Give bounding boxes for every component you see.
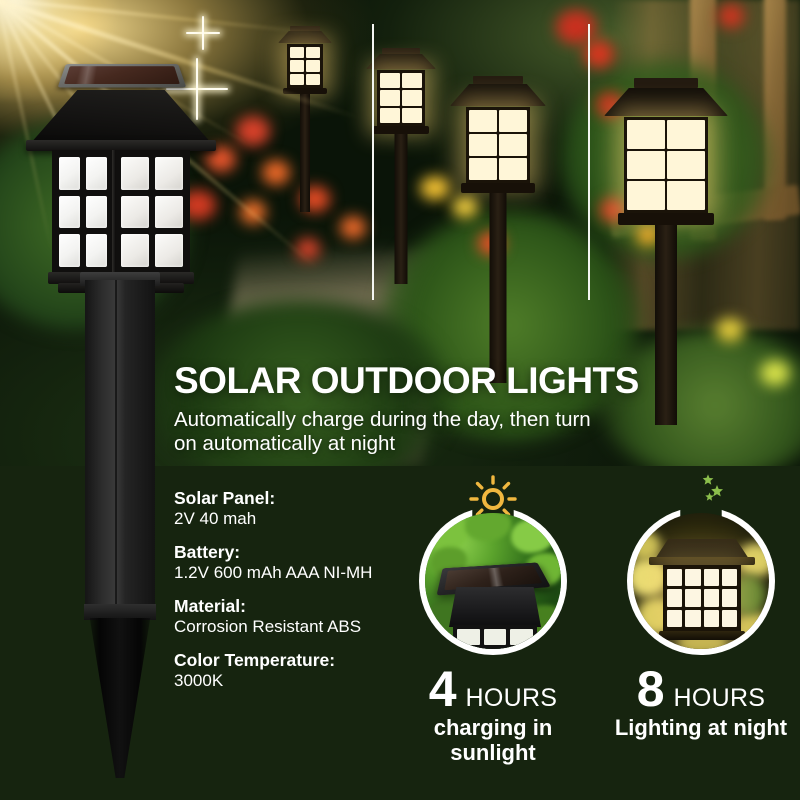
feature-caption: Lighting at night bbox=[606, 716, 796, 741]
lantern-corner-edge bbox=[112, 150, 116, 274]
hours-unit: HOURS bbox=[674, 684, 766, 713]
spec-value: 2V 40 mah bbox=[174, 509, 374, 529]
lighting-photo bbox=[633, 513, 769, 649]
spec-label: Battery: bbox=[174, 542, 374, 563]
flower-bokeh bbox=[716, 318, 744, 342]
headline-block: SOLAR OUTDOOR LIGHTS Automatically charg… bbox=[174, 362, 794, 456]
spec-item: Material: Corrosion Resistant ABS bbox=[174, 596, 374, 637]
flower-bokeh bbox=[420, 176, 450, 200]
flower-bokeh bbox=[262, 160, 290, 185]
flower-bokeh bbox=[556, 10, 596, 44]
solar-cell bbox=[64, 66, 180, 84]
column-divider bbox=[372, 24, 374, 300]
feature-caption: charging in sunlight bbox=[398, 716, 588, 765]
hours-number: 4 bbox=[429, 666, 457, 712]
spec-value: 1.2V 600 mAh AAA NI-MH bbox=[174, 563, 374, 583]
flower-bokeh bbox=[240, 200, 266, 224]
spec-label: Color Temperature: bbox=[174, 650, 374, 671]
spec-item: Color Temperature: 3000K bbox=[174, 650, 374, 691]
solar-panel bbox=[58, 64, 187, 88]
feature-charging: 4 HOURS charging in sunlight bbox=[398, 474, 588, 765]
feature-hours: 4 HOURS bbox=[398, 666, 588, 713]
hours-unit: HOURS bbox=[466, 684, 558, 713]
spec-value: Corrosion Resistant ABS bbox=[174, 617, 374, 637]
flower-bokeh bbox=[452, 196, 478, 218]
spec-label: Material: bbox=[174, 596, 374, 617]
page-title: SOLAR OUTDOOR LIGHTS bbox=[174, 362, 794, 399]
lantern-glass-face bbox=[114, 150, 190, 274]
spec-value: 3000K bbox=[174, 671, 374, 691]
page-subtitle: Automatically charge during the day, the… bbox=[174, 408, 604, 456]
lantern-post bbox=[85, 280, 155, 610]
spec-item: Battery: 1.2V 600 mAh AAA NI-MH bbox=[174, 542, 374, 583]
charging-photo bbox=[425, 513, 561, 649]
feature-photo-ring bbox=[627, 507, 775, 655]
flower-bokeh bbox=[340, 216, 366, 239]
lantern-glass-housing bbox=[52, 150, 190, 274]
lantern-glass-face bbox=[52, 150, 114, 274]
lantern-glow-closeup bbox=[663, 565, 741, 631]
feature-hours: 8 HOURS bbox=[606, 666, 796, 713]
flower-bokeh bbox=[718, 4, 744, 28]
spec-list: Solar Panel: 2V 40 mah Battery: 1.2V 600… bbox=[174, 488, 374, 704]
feature-photo-ring bbox=[419, 507, 567, 655]
flower-bokeh bbox=[236, 116, 270, 146]
feature-lighting: 8 HOURS Lighting at night bbox=[606, 474, 796, 741]
hours-number: 8 bbox=[637, 666, 665, 712]
product-infographic: SOLAR OUTDOOR LIGHTS Automatically charg… bbox=[0, 0, 800, 800]
lantern-post-foot bbox=[84, 604, 156, 620]
flower-bokeh bbox=[296, 238, 320, 260]
spec-item: Solar Panel: 2V 40 mah bbox=[174, 488, 374, 529]
spec-label: Solar Panel: bbox=[174, 488, 374, 509]
column-divider bbox=[588, 24, 590, 300]
